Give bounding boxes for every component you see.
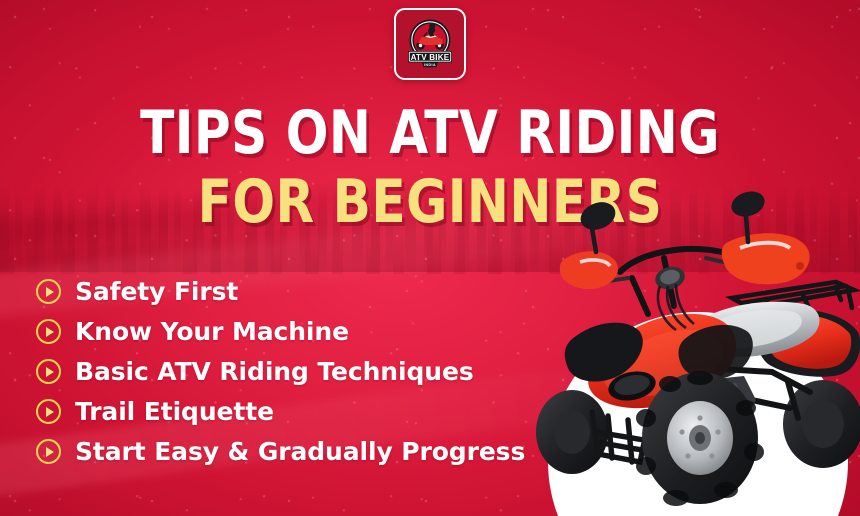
rear-wheel [783,380,860,468]
list-item-label: Start Easy & Gradually Progress [75,437,525,466]
list-item-label: Safety First [75,277,238,306]
tips-list: Safety First Know Your Machine Basic ATV… [36,272,525,472]
logo-subwordmark: INDIA [424,63,436,67]
play-circle-icon [36,439,61,464]
play-circle-icon [36,319,61,344]
brand-logo[interactable]: ATV BIKE INDIA [394,8,466,80]
atv-bike-india-logo-icon: ATV BIKE INDIA [400,14,460,74]
list-item[interactable]: Know Your Machine [36,312,525,351]
list-item[interactable]: Basic ATV Riding Techniques [36,352,525,391]
play-circle-icon [36,399,61,424]
list-item[interactable]: Trail Etiquette [36,392,525,431]
promo-banner: ATV BIKE INDIA TIPS ON ATV RIDING FOR BE… [0,0,860,516]
left-hand-guard [560,251,618,289]
play-circle-icon [36,359,61,384]
list-item[interactable]: Safety First [36,272,525,311]
atv-quad-bike-illustration [536,186,860,516]
list-item[interactable]: Start Easy & Gradually Progress [36,432,525,471]
left-mirror [576,197,619,252]
atv-artwork [536,186,860,516]
list-item-label: Basic ATV Riding Techniques [75,357,474,386]
play-circle-icon [36,279,61,304]
list-item-label: Trail Etiquette [75,397,274,426]
logo-wordmark: ATV BIKE [411,53,450,62]
list-item-label: Know Your Machine [75,317,349,346]
